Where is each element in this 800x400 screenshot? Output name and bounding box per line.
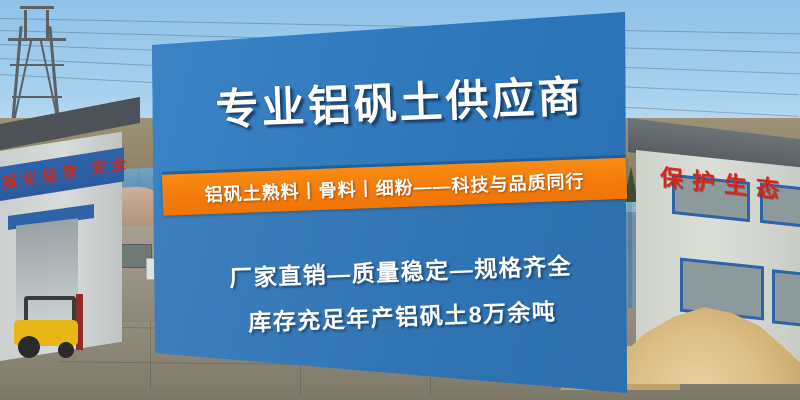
banner-stage: 强化监管 安全为首 保护生态 <box>0 0 800 400</box>
subline-1: 厂家直销—质量稳定—规格齐全 <box>195 246 606 295</box>
subline-2: 库存充足年产铝矾土8万余吨 <box>197 291 608 340</box>
tagline-text: 铝矾土熟料丨骨料丨细粉——科技与品质同行 <box>162 158 627 216</box>
forklift-wheel <box>58 342 74 358</box>
page-title: 专业铝矾土供应商 <box>198 62 600 139</box>
ground-crack <box>150 310 151 390</box>
forklift-wheel <box>18 336 40 358</box>
right-building-window <box>772 269 800 328</box>
yellow-forklift <box>6 296 90 358</box>
banner-copy: 专业铝矾土供应商 铝矾土熟料丨骨料丨细粉——科技与品质同行 厂家直销—质量稳定—… <box>152 0 642 394</box>
